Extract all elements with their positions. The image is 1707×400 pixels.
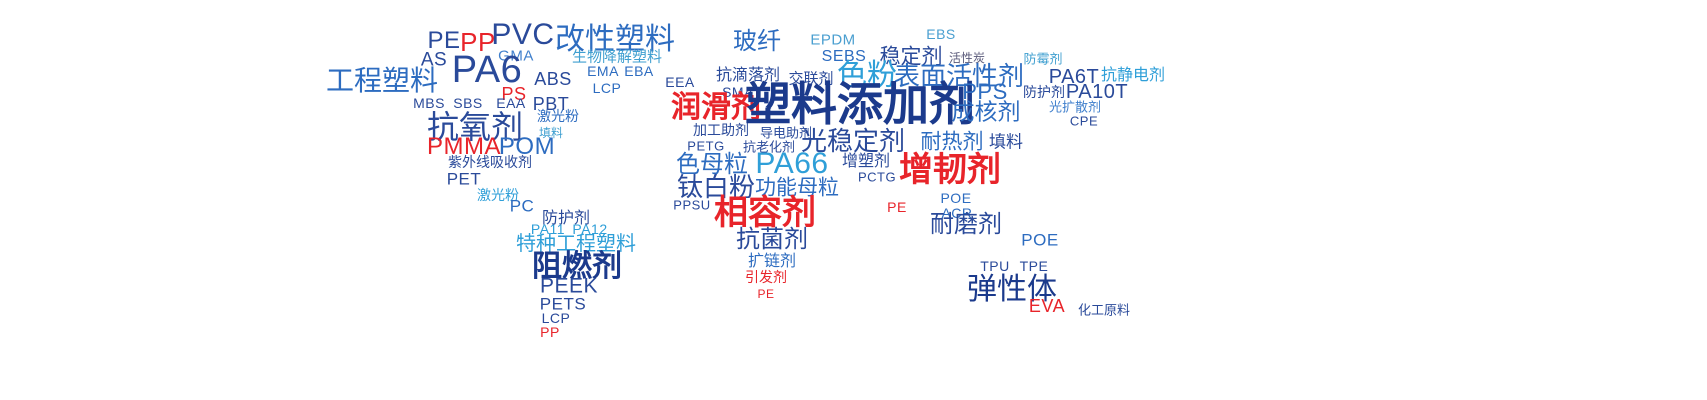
- cloud-word[interactable]: PET: [447, 171, 482, 188]
- cloud-word[interactable]: PEEK: [540, 276, 598, 297]
- cloud-word[interactable]: 紫外线吸收剂: [448, 156, 532, 170]
- cloud-word[interactable]: 塑料添加剂: [745, 81, 975, 127]
- word-cloud-canvas: PEPPPVCGMA改性塑料玻纤EPDMEBSASPA6生物降解塑料SEBS稳定…: [0, 0, 1707, 400]
- cloud-word[interactable]: PE: [757, 288, 774, 300]
- cloud-word[interactable]: EMA: [587, 64, 619, 78]
- cloud-word[interactable]: EBS: [926, 27, 956, 41]
- cloud-word[interactable]: PC: [510, 198, 535, 215]
- cloud-word[interactable]: PE: [887, 200, 907, 214]
- cloud-word[interactable]: 防霉剂: [1023, 54, 1062, 67]
- cloud-word[interactable]: PP: [540, 325, 560, 339]
- cloud-word[interactable]: 耐磨剂: [930, 212, 1002, 236]
- cloud-word[interactable]: 填料: [989, 135, 1023, 152]
- cloud-word[interactable]: TPE: [1020, 259, 1049, 273]
- cloud-word[interactable]: EPDM: [810, 33, 855, 48]
- cloud-word[interactable]: PA66: [755, 149, 828, 179]
- cloud-word[interactable]: LCP: [593, 81, 622, 95]
- cloud-word[interactable]: EBA: [624, 64, 654, 78]
- cloud-word[interactable]: 增韧剂: [899, 153, 1001, 187]
- cloud-word[interactable]: TPU: [980, 259, 1010, 273]
- cloud-word[interactable]: 工程塑料: [326, 67, 438, 95]
- cloud-word[interactable]: 成核剂: [952, 102, 1021, 125]
- cloud-word[interactable]: PVC: [491, 20, 554, 50]
- cloud-word[interactable]: POE: [940, 191, 971, 205]
- cloud-word[interactable]: 化工原料: [1078, 305, 1130, 318]
- cloud-word[interactable]: 激光粉: [537, 110, 579, 124]
- cloud-word[interactable]: 增塑剂: [842, 153, 890, 169]
- cloud-word[interactable]: PPSU: [673, 199, 710, 212]
- cloud-word[interactable]: POE: [1021, 232, 1058, 249]
- cloud-word[interactable]: 抗菌剂: [736, 227, 808, 251]
- cloud-word[interactable]: 引发剂: [745, 271, 787, 285]
- cloud-word[interactable]: CPE: [1070, 115, 1098, 128]
- cloud-word[interactable]: 加工助剂: [693, 124, 749, 138]
- cloud-word[interactable]: EEA: [665, 75, 695, 89]
- cloud-word[interactable]: 扩链剂: [748, 253, 796, 269]
- cloud-word[interactable]: EVA: [1029, 297, 1065, 315]
- cloud-word[interactable]: ABS: [534, 70, 572, 88]
- cloud-word[interactable]: PA10T: [1066, 82, 1128, 102]
- cloud-word[interactable]: PCTG: [858, 171, 896, 184]
- cloud-word[interactable]: LCP: [542, 311, 571, 325]
- cloud-word[interactable]: 防护剂: [1023, 86, 1065, 100]
- cloud-word[interactable]: 玻纤: [733, 29, 781, 53]
